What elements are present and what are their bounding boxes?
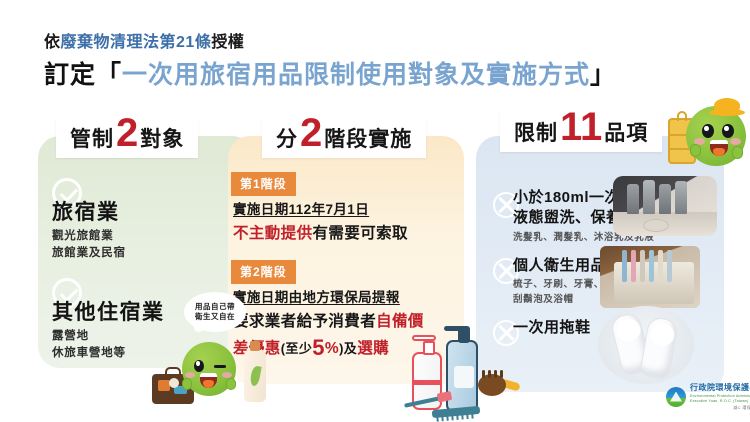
green-item-2-sub-2: 休旅車營地等 bbox=[52, 345, 165, 362]
mascot-traveler bbox=[668, 96, 750, 180]
toiletry-illustration bbox=[398, 334, 518, 422]
chip-blue-prefix: 限制 bbox=[514, 117, 558, 147]
header-line-1: 依廢棄物清理法第21條授權 bbox=[44, 28, 616, 52]
header-line2-prefix: 訂定「 bbox=[44, 61, 122, 89]
chip-controlled-targets: 管制 2 對象 bbox=[56, 118, 198, 158]
disposable-slippers-photo bbox=[598, 306, 694, 384]
header-line1-prefix: 依 bbox=[44, 34, 61, 51]
toiletry-kit-photo bbox=[600, 246, 700, 308]
green-item-1-sub-1: 觀光旅館業 bbox=[52, 228, 126, 245]
green-item-1-sub-2: 旅館業及民宿 bbox=[52, 245, 126, 262]
chip-orange-prefix: 分 bbox=[276, 123, 298, 153]
header-line2-suffix: 」 bbox=[590, 61, 616, 89]
chip-restricted-items: 限制 11 品項 bbox=[500, 112, 662, 152]
green-item-2: 其他住宿業 露營地 休旅車營地等 bbox=[52, 296, 165, 361]
page-title: 依廢棄物清理法第21條授權 訂定「一次用旅宿用品限制使用對象及實施方式」 bbox=[44, 28, 616, 91]
stage-2-rule-black: 要求業者給予消費者 bbox=[233, 313, 376, 330]
lotion-bottle-icon bbox=[244, 350, 266, 402]
blue-item-3-title-1: 一次用拖鞋 bbox=[513, 318, 591, 338]
hair-brush-icon bbox=[478, 374, 518, 396]
stage-2-percent-sign: % bbox=[325, 340, 339, 357]
header-line1-suffix: 授權 bbox=[211, 34, 244, 51]
stage-1-rule-black: 有需要可索取 bbox=[313, 225, 408, 242]
stage-1-rule: 不主動提供有需要可索取 bbox=[233, 221, 408, 243]
header-line1-accent: 廢棄物清理法第21條 bbox=[61, 34, 212, 51]
stage-1-body: 實施日期112年7月1日 不主動提供有需要可索取 bbox=[233, 198, 408, 243]
chip-green-suffix: 對象 bbox=[140, 123, 184, 153]
stage-2-tag: 第2階段 bbox=[231, 260, 296, 284]
green-item-1-title: 旅宿業 bbox=[52, 196, 126, 226]
infographic-canvas: 依廢棄物清理法第21條授權 訂定「一次用旅宿用品限制使用對象及實施方式」 管制 … bbox=[0, 0, 750, 422]
stage-2-date: 實施日期由地方環保局提報 bbox=[233, 286, 424, 306]
stage-2-rule-red: 自備價 bbox=[376, 313, 424, 330]
speech-bubble-line-2: 衛生又自在 bbox=[195, 312, 235, 323]
epa-name-cn: 行政院環境保護署 bbox=[690, 382, 750, 393]
green-item-2-title: 其他住宿業 bbox=[52, 296, 165, 326]
stage-1-tag: 第1階段 bbox=[231, 172, 296, 196]
epa-name-en-2: Executive Yuan, R.O.C. (Taiwan) bbox=[690, 399, 750, 403]
mascot-packing bbox=[152, 338, 262, 422]
stage-2-paren-close: )及 bbox=[339, 341, 357, 356]
header-line-2: 訂定「一次用旅宿用品限制使用對象及實施方式」 bbox=[44, 55, 616, 91]
epa-tagline: 減C 環保署 ＋ bbox=[690, 405, 750, 411]
stage-2-percent-number: 5 bbox=[312, 335, 325, 360]
stage-1-date: 實施日期112年7月1日 bbox=[233, 198, 408, 218]
chip-blue-suffix: 品項 bbox=[604, 117, 648, 147]
epa-name-en: Environmental Protection Administration bbox=[690, 394, 750, 398]
blue-pump-bottle-icon bbox=[446, 340, 478, 412]
stage-2-rule: 要求業者給予消費者自備價 bbox=[233, 309, 424, 331]
epa-logo-mark-icon bbox=[666, 387, 686, 407]
stage-1-rule-red: 不主動提供 bbox=[233, 225, 313, 242]
chip-green-prefix: 管制 bbox=[70, 123, 114, 153]
green-item-1: 旅宿業 觀光旅館業 旅館業及民宿 bbox=[52, 196, 126, 261]
speech-bubble-line-1: 用品自己帶 bbox=[195, 302, 235, 313]
stage-2-discount-red-b: 選購 bbox=[357, 340, 389, 357]
epa-logo-text: 行政院環境保護署 Environmental Protection Admini… bbox=[690, 382, 750, 411]
epa-logo: 行政院環境保護署 Environmental Protection Admini… bbox=[666, 382, 750, 411]
speech-bubble: 用品自己帶 衛生又自在 bbox=[184, 292, 246, 332]
chip-orange-suffix: 階段實施 bbox=[324, 123, 412, 153]
blue-item-3: 一次用拖鞋 bbox=[513, 318, 591, 338]
stage-2-paren-open: (至少 bbox=[281, 341, 313, 356]
header-line2-blue: 一次用旅宿用品限制使用對象及實施方式 bbox=[122, 61, 590, 89]
green-item-2-sub-1: 露營地 bbox=[52, 328, 165, 345]
chip-two-stages: 分 2 階段實施 bbox=[262, 118, 426, 158]
amenity-bottles-photo bbox=[613, 176, 717, 236]
